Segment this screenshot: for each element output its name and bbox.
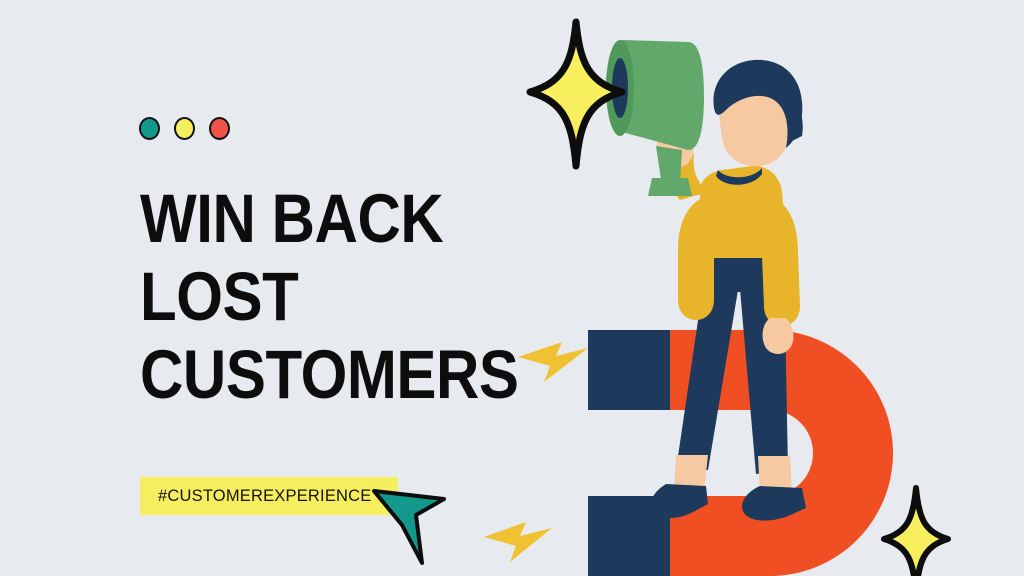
headline-line-1: WIN BACK (140, 186, 436, 252)
decorative-dots (139, 117, 230, 140)
headline-line-3: CUSTOMERS (140, 342, 436, 408)
text-column: WIN BACK LOST CUSTOMERS #CUSTOMEREXPERIE… (0, 0, 500, 576)
sparkle-small-icon (884, 488, 948, 576)
lightning-bolt-lower-icon (484, 522, 552, 562)
sparkle-large-icon (530, 22, 622, 166)
dot-red-icon (209, 117, 230, 140)
dot-yellow-icon (174, 117, 195, 140)
cursor-arrow-icon (372, 485, 448, 574)
illustration (470, 0, 1024, 576)
horseshoe-magnet-shape (588, 330, 893, 576)
dot-teal-icon (139, 117, 160, 140)
poster-canvas: WIN BACK LOST CUSTOMERS #CUSTOMEREXPERIE… (0, 0, 1024, 576)
headline: WIN BACK LOST CUSTOMERS (140, 186, 480, 409)
headline-line-2: LOST (140, 264, 436, 330)
lightning-bolt-upper-icon (518, 342, 588, 382)
hashtag-label: #CUSTOMEREXPERIENCE (158, 477, 371, 515)
